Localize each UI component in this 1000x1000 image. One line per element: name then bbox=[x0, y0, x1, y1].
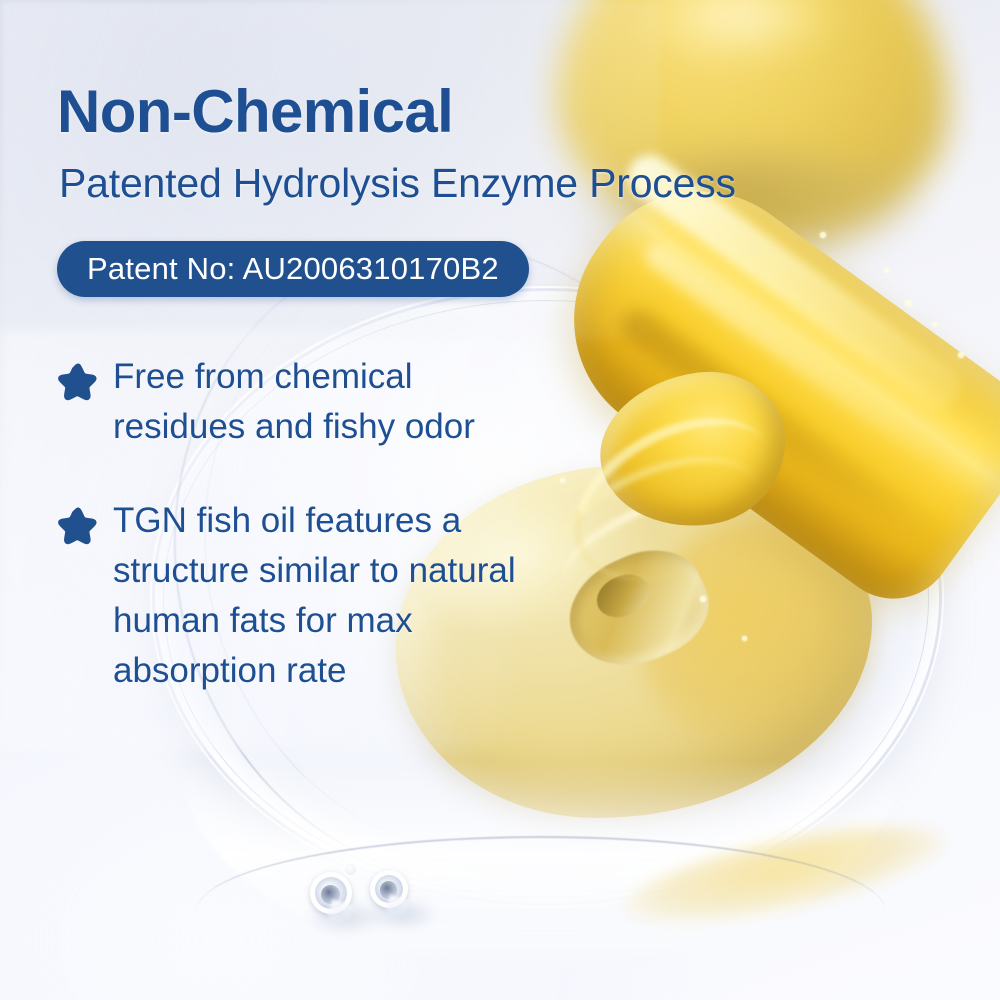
list-item-line: structure similar to natural bbox=[113, 546, 516, 596]
poster-content: Non-Chemical Patented Hydrolysis Enzyme … bbox=[0, 0, 1000, 1000]
page-title: Non-Chemical bbox=[57, 82, 453, 142]
list-item-line: absorption rate bbox=[113, 646, 516, 696]
star-icon bbox=[57, 504, 99, 546]
patent-badge: Patent No: AU2006310170B2 bbox=[57, 241, 529, 297]
list-item-line: Free from chemical bbox=[113, 352, 475, 402]
star-icon bbox=[57, 360, 99, 402]
page-subtitle: Patented Hydrolysis Enzyme Process bbox=[59, 163, 736, 204]
list-item-text: Free from chemical residues and fishy od… bbox=[113, 352, 475, 452]
list-item-line: TGN fish oil features a bbox=[113, 496, 516, 546]
list-item-text: TGN fish oil features a structure simila… bbox=[113, 496, 516, 696]
patent-badge-label: Patent No: AU2006310170B2 bbox=[87, 251, 499, 287]
list-item: Free from chemical residues and fishy od… bbox=[57, 352, 617, 452]
list-item-line: residues and fishy odor bbox=[113, 402, 475, 452]
feature-list: Free from chemical residues and fishy od… bbox=[57, 352, 617, 696]
product-feature-poster: Non-Chemical Patented Hydrolysis Enzyme … bbox=[0, 0, 1000, 1000]
list-item-line: human fats for max bbox=[113, 596, 516, 646]
list-item: TGN fish oil features a structure simila… bbox=[57, 496, 617, 696]
